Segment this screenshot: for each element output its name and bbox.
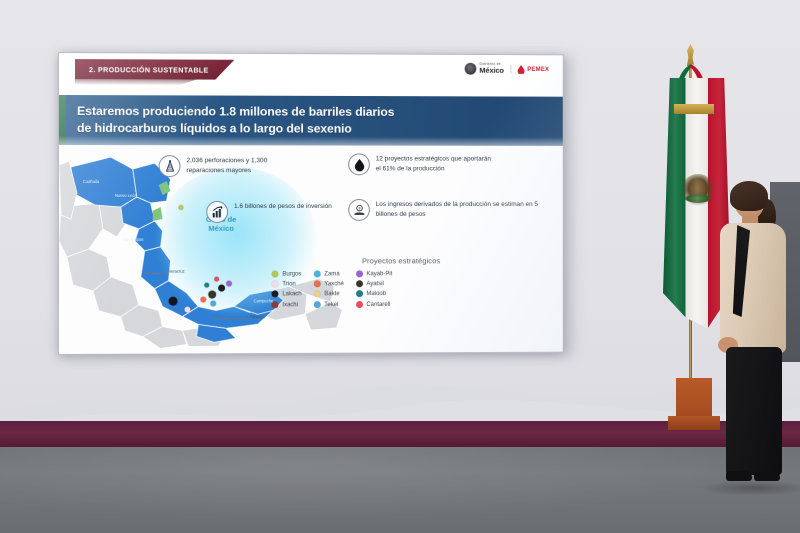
legend-label-ayatsil: Ayatsil	[366, 280, 383, 287]
map-dot-ayatsil	[208, 291, 216, 299]
broadcast-stage: 2. PRODUCCIÓN SUSTENTABLE Gobierno de Mé…	[0, 0, 800, 533]
map-dot-cantarell	[214, 277, 219, 282]
fact-strategic-projects-text: 12 proyectos estratégicos que aportarán …	[376, 153, 495, 173]
swatch-kayab-pit	[356, 270, 363, 277]
fact-revenue: $ Los ingresos derivados de la producció…	[348, 199, 549, 221]
map-dot-yaxche	[200, 297, 206, 303]
pemex-label: PEMEX	[527, 66, 549, 73]
eagle-seal-icon	[465, 63, 477, 75]
slide-title-line1: Estaremos produciendo 1.8 millones de ba…	[77, 103, 394, 121]
oil-drop-icon	[348, 153, 370, 175]
map-dot-trion	[184, 307, 190, 313]
swatch-maloob	[356, 291, 363, 298]
svg-text:$: $	[358, 206, 360, 210]
swatch-tekel	[314, 301, 321, 308]
legend-label-trion: Trion	[282, 281, 295, 288]
swatch-ayatsil	[356, 280, 363, 287]
legend-item-zama[interactable]: Zama	[314, 270, 344, 277]
legend-label-maloob: Maloob	[366, 290, 386, 297]
pemex-logo: PEMEX	[511, 64, 550, 73]
legend-item-bakte[interactable]: Bakte	[314, 291, 344, 298]
legend-label-burgos: Burgos	[282, 270, 301, 277]
legend-columns: Burgos Trion Lakach Ixachi	[254, 270, 548, 308]
legend-label-yaxche: Yaxché	[324, 280, 344, 287]
growth-chart-icon	[206, 201, 228, 223]
projects-legend-title: Proyectos estratégicos	[254, 256, 548, 265]
legend-item-kayab-pit[interactable]: Kayab-Pit	[356, 270, 393, 277]
swatch-bakte	[314, 291, 321, 298]
legend-item-ayatsil[interactable]: Ayatsil	[356, 280, 393, 287]
map-dot-ixachi	[169, 297, 178, 306]
slide-title-band: Estaremos produciendo 1.8 millones de ba…	[59, 95, 563, 146]
podium-base	[668, 416, 720, 430]
fact-revenue-text: Los ingresos derivados de la producción …	[376, 199, 549, 219]
legend-column-2: Zama Yaxché Bakte Tekel	[314, 270, 344, 307]
floor-sheen	[0, 447, 800, 533]
map-label-coahuila: Coahuila	[83, 179, 99, 184]
legend-label-lakach: Lakach	[282, 291, 301, 298]
map-dot-tekel	[210, 301, 216, 307]
flag-band	[674, 104, 714, 114]
legend-item-cantarell[interactable]: Cantarell	[356, 301, 393, 308]
presentation-screen[interactable]: 2. PRODUCCIÓN SUSTENTABLE Gobierno de Mé…	[58, 52, 564, 355]
legend-label-tekel: Tekel	[324, 301, 338, 308]
leader-veracruz	[145, 273, 167, 274]
map-label-tamaulipas: Tamaulipas	[123, 237, 144, 242]
map-label-nuevo-leon: Nuevo León	[115, 193, 137, 198]
fact-drilling: 2,036 perforaciones y 1,300 reparaciones…	[159, 155, 286, 177]
legend-item-lakach[interactable]: Lakach	[271, 291, 301, 298]
legend-item-burgos[interactable]: Burgos	[271, 270, 301, 277]
legend-label-zama: Zama	[324, 270, 339, 277]
gobierno-line2: México	[479, 67, 503, 75]
map-label-tabasco: Tabasco	[250, 314, 265, 319]
pemex-mark-icon	[517, 65, 525, 74]
map-dot-maloob	[204, 283, 209, 288]
slide-body: Golfo de México Coahuila Nuevo León Tama…	[59, 145, 563, 355]
ribbon-shadow	[75, 79, 204, 85]
fact-strategic-projects: 12 proyectos estratégicos que aportarán …	[348, 153, 495, 175]
legend-label-kayab-pit: Kayab-Pit	[366, 270, 392, 277]
facts-group: 2,036 perforaciones y 1,300 reparaciones…	[159, 149, 563, 257]
presenter-person	[718, 185, 800, 495]
swatch-ixachi	[271, 301, 278, 308]
trousers	[726, 347, 782, 475]
legend-item-ixachi[interactable]: Ixachi	[271, 301, 301, 308]
legend-column-1: Burgos Trion Lakach Ixachi	[271, 270, 301, 307]
fact-investment: 1.6 billones de pesos de inversión	[206, 201, 332, 223]
slide-title-line2: de hidrocarburos líquidos a lo largo del…	[77, 120, 394, 137]
section-ribbon: 2. PRODUCCIÓN SUSTENTABLE	[75, 59, 234, 80]
swatch-cantarell	[356, 301, 363, 308]
legend-column-3: Kayab-Pit Ayatsil Maloob Cantarell	[356, 270, 393, 307]
gobierno-de-mexico-logo: Gobierno de México	[465, 63, 504, 75]
swatch-burgos	[271, 271, 278, 278]
oil-derrick-icon	[159, 155, 181, 177]
swatch-zama	[314, 270, 321, 277]
legend-label-cantarell: Cantarell	[366, 301, 390, 308]
swatch-yaxche	[314, 281, 321, 288]
leader-tabasco	[214, 318, 248, 319]
legend-item-tekel[interactable]: Tekel	[314, 301, 344, 308]
map-dot-lakach	[218, 285, 225, 292]
shoe-right	[754, 471, 780, 481]
swatch-trion	[271, 281, 278, 288]
map-label-veracruz: Veracruz	[169, 269, 185, 274]
projects-legend: Proyectos estratégicos Burgos Trion	[254, 256, 548, 308]
blazer-torso	[720, 223, 786, 353]
fact-investment-text: 1.6 billones de pesos de inversión	[234, 201, 332, 211]
legend-item-yaxche[interactable]: Yaxché	[314, 280, 344, 287]
money-hand-icon: $	[348, 199, 370, 221]
legend-label-ixachi: Ixachi	[282, 301, 298, 308]
legend-item-maloob[interactable]: Maloob	[356, 290, 393, 297]
logo-group: Gobierno de México PEMEX	[465, 63, 549, 75]
legend-item-trion[interactable]: Trion	[271, 281, 301, 288]
map-dot-kayab	[226, 281, 232, 287]
slide-header: 2. PRODUCCIÓN SUSTENTABLE Gobierno de Mé…	[59, 53, 563, 97]
legend-label-bakte: Bakte	[324, 291, 339, 298]
swatch-lakach	[271, 291, 278, 298]
slide-title: Estaremos produciendo 1.8 millones de ba…	[59, 103, 394, 137]
fact-drilling-text: 2,036 perforaciones y 1,300 reparaciones…	[186, 155, 285, 175]
hair	[730, 181, 768, 211]
shoe-left	[726, 471, 752, 481]
